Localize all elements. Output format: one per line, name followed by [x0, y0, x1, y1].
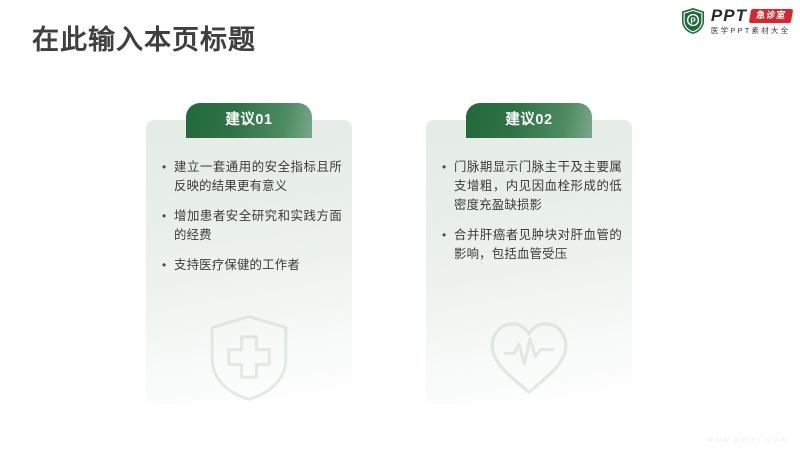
- svg-text:P: P: [690, 16, 696, 25]
- card-body: • 门脉期显示门脉主干及主要属支增粗，内见因血栓形成的低密度充盈缺损影 • 合并…: [426, 120, 632, 405]
- suggestion-card-2: • 门脉期显示门脉主干及主要属支增粗，内见因血栓形成的低密度充盈缺损影 • 合并…: [426, 120, 632, 405]
- logo-brand-text: PPT: [711, 7, 747, 24]
- shield-cross-icon: [203, 311, 295, 403]
- list-item: • 门脉期显示门脉主干及主要属支增粗，内见因血栓形成的低密度充盈缺损影: [440, 158, 622, 215]
- bullet-dot-icon: •: [160, 207, 174, 226]
- bullet-dot-icon: •: [440, 226, 454, 245]
- card-banner-label: 建议01: [225, 113, 272, 129]
- bullet-list: • 建立一套通用的安全指标且所反映的结果更有意义 • 增加患者安全研究和实践方面…: [160, 158, 342, 286]
- bullet-text: 增加患者安全研究和实践方面的经费: [174, 207, 342, 245]
- bullet-text: 建立一套通用的安全指标且所反映的结果更有意义: [174, 158, 342, 196]
- list-item: • 合并肝癌者见肿块对肝血管的影响，包括血管受压: [440, 226, 622, 264]
- logo-subtitle: 医学PPT素材大全: [711, 27, 792, 35]
- bullet-dot-icon: •: [440, 158, 454, 177]
- list-item: • 建立一套通用的安全指标且所反映的结果更有意义: [160, 158, 342, 196]
- logo-badge: 急诊室: [749, 9, 793, 23]
- brand-logo: P PPT 急诊室 医学PPT素材大全: [680, 6, 792, 36]
- card-banner-1: 建议01: [186, 103, 312, 138]
- bullet-list: • 门脉期显示门脉主干及主要属支增粗，内见因血栓形成的低密度充盈缺损影 • 合并…: [440, 158, 622, 275]
- card-body: • 建立一套通用的安全指标且所反映的结果更有意义 • 增加患者安全研究和实践方面…: [146, 120, 352, 405]
- bullet-text: 支持医疗保健的工作者: [174, 256, 342, 275]
- logo-primary-row: PPT 急诊室: [711, 7, 792, 24]
- bullet-text: 门脉期显示门脉主干及主要属支增粗，内见因血栓形成的低密度充盈缺损影: [454, 158, 622, 215]
- card-banner-label: 建议02: [505, 113, 552, 129]
- page-title: 在此输入本页标题: [32, 18, 256, 57]
- list-item: • 支持医疗保健的工作者: [160, 256, 342, 275]
- bullet-text: 合并肝癌者见肿块对肝血管的影响，包括血管受压: [454, 226, 622, 264]
- card-banner-2: 建议02: [466, 103, 592, 138]
- shield-logo-icon: P: [680, 7, 706, 35]
- bullet-dot-icon: •: [160, 158, 174, 177]
- footer-watermark: www.ppter.com: [708, 435, 788, 444]
- heart-pulse-icon: [483, 311, 575, 403]
- list-item: • 增加患者安全研究和实践方面的经费: [160, 207, 342, 245]
- logo-text-block: PPT 急诊室 医学PPT素材大全: [711, 7, 792, 35]
- suggestion-card-1: • 建立一套通用的安全指标且所反映的结果更有意义 • 增加患者安全研究和实践方面…: [146, 120, 352, 405]
- bullet-dot-icon: •: [160, 256, 174, 275]
